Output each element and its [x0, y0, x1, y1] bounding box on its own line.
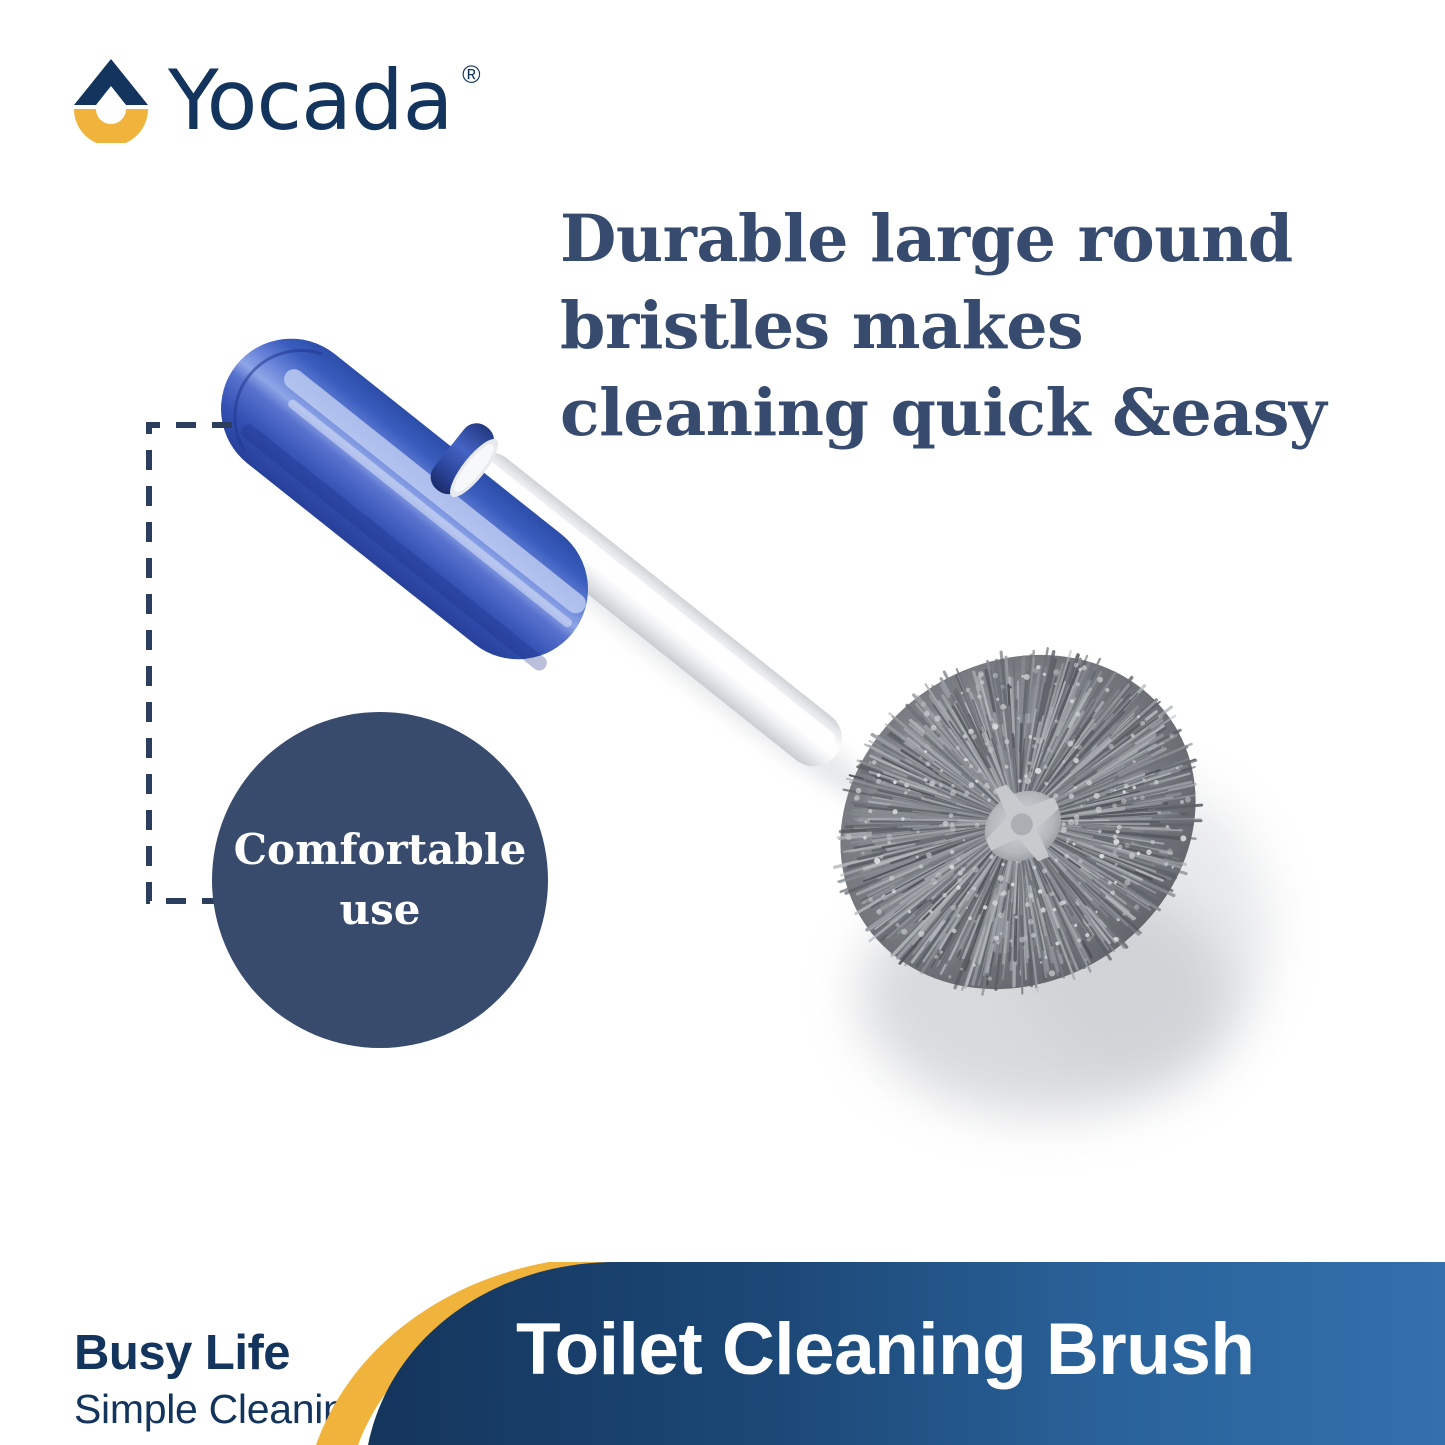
- brand-logo: Yocada ®: [72, 52, 453, 148]
- headline-line-3: cleaning quick &easy: [560, 370, 1320, 457]
- comfort-use-badge-label: Comfortable use: [220, 820, 541, 939]
- brand-name: Yocada: [168, 52, 453, 149]
- brush-head: [770, 580, 1268, 1062]
- product-marketing-image: Comfortable use Yocada ® Durable large r…: [0, 0, 1445, 1445]
- comfort-badge-line-2: use: [340, 885, 421, 934]
- handle-collar: [424, 417, 507, 506]
- brush-hub: [965, 765, 1080, 881]
- headline-line-1: Durable large round: [560, 196, 1320, 283]
- comfort-use-badge: Comfortable use: [212, 712, 548, 1048]
- product-shadow: [461, 472, 1270, 1115]
- comfort-badge-line-1: Comfortable: [234, 825, 527, 874]
- product-banner: Toilet Cleaning Brush: [316, 1262, 1445, 1445]
- product-banner-title: Toilet Cleaning Brush: [516, 1308, 1254, 1391]
- brand-wordmark: Yocada ®: [168, 59, 453, 142]
- headline-line-2: bristles makes: [560, 283, 1320, 370]
- headline: Durable large round bristles makes clean…: [560, 196, 1320, 457]
- registered-trademark-icon: ®: [462, 63, 479, 88]
- droplet-logo-icon: [72, 57, 150, 143]
- brush-shaft: [450, 441, 853, 777]
